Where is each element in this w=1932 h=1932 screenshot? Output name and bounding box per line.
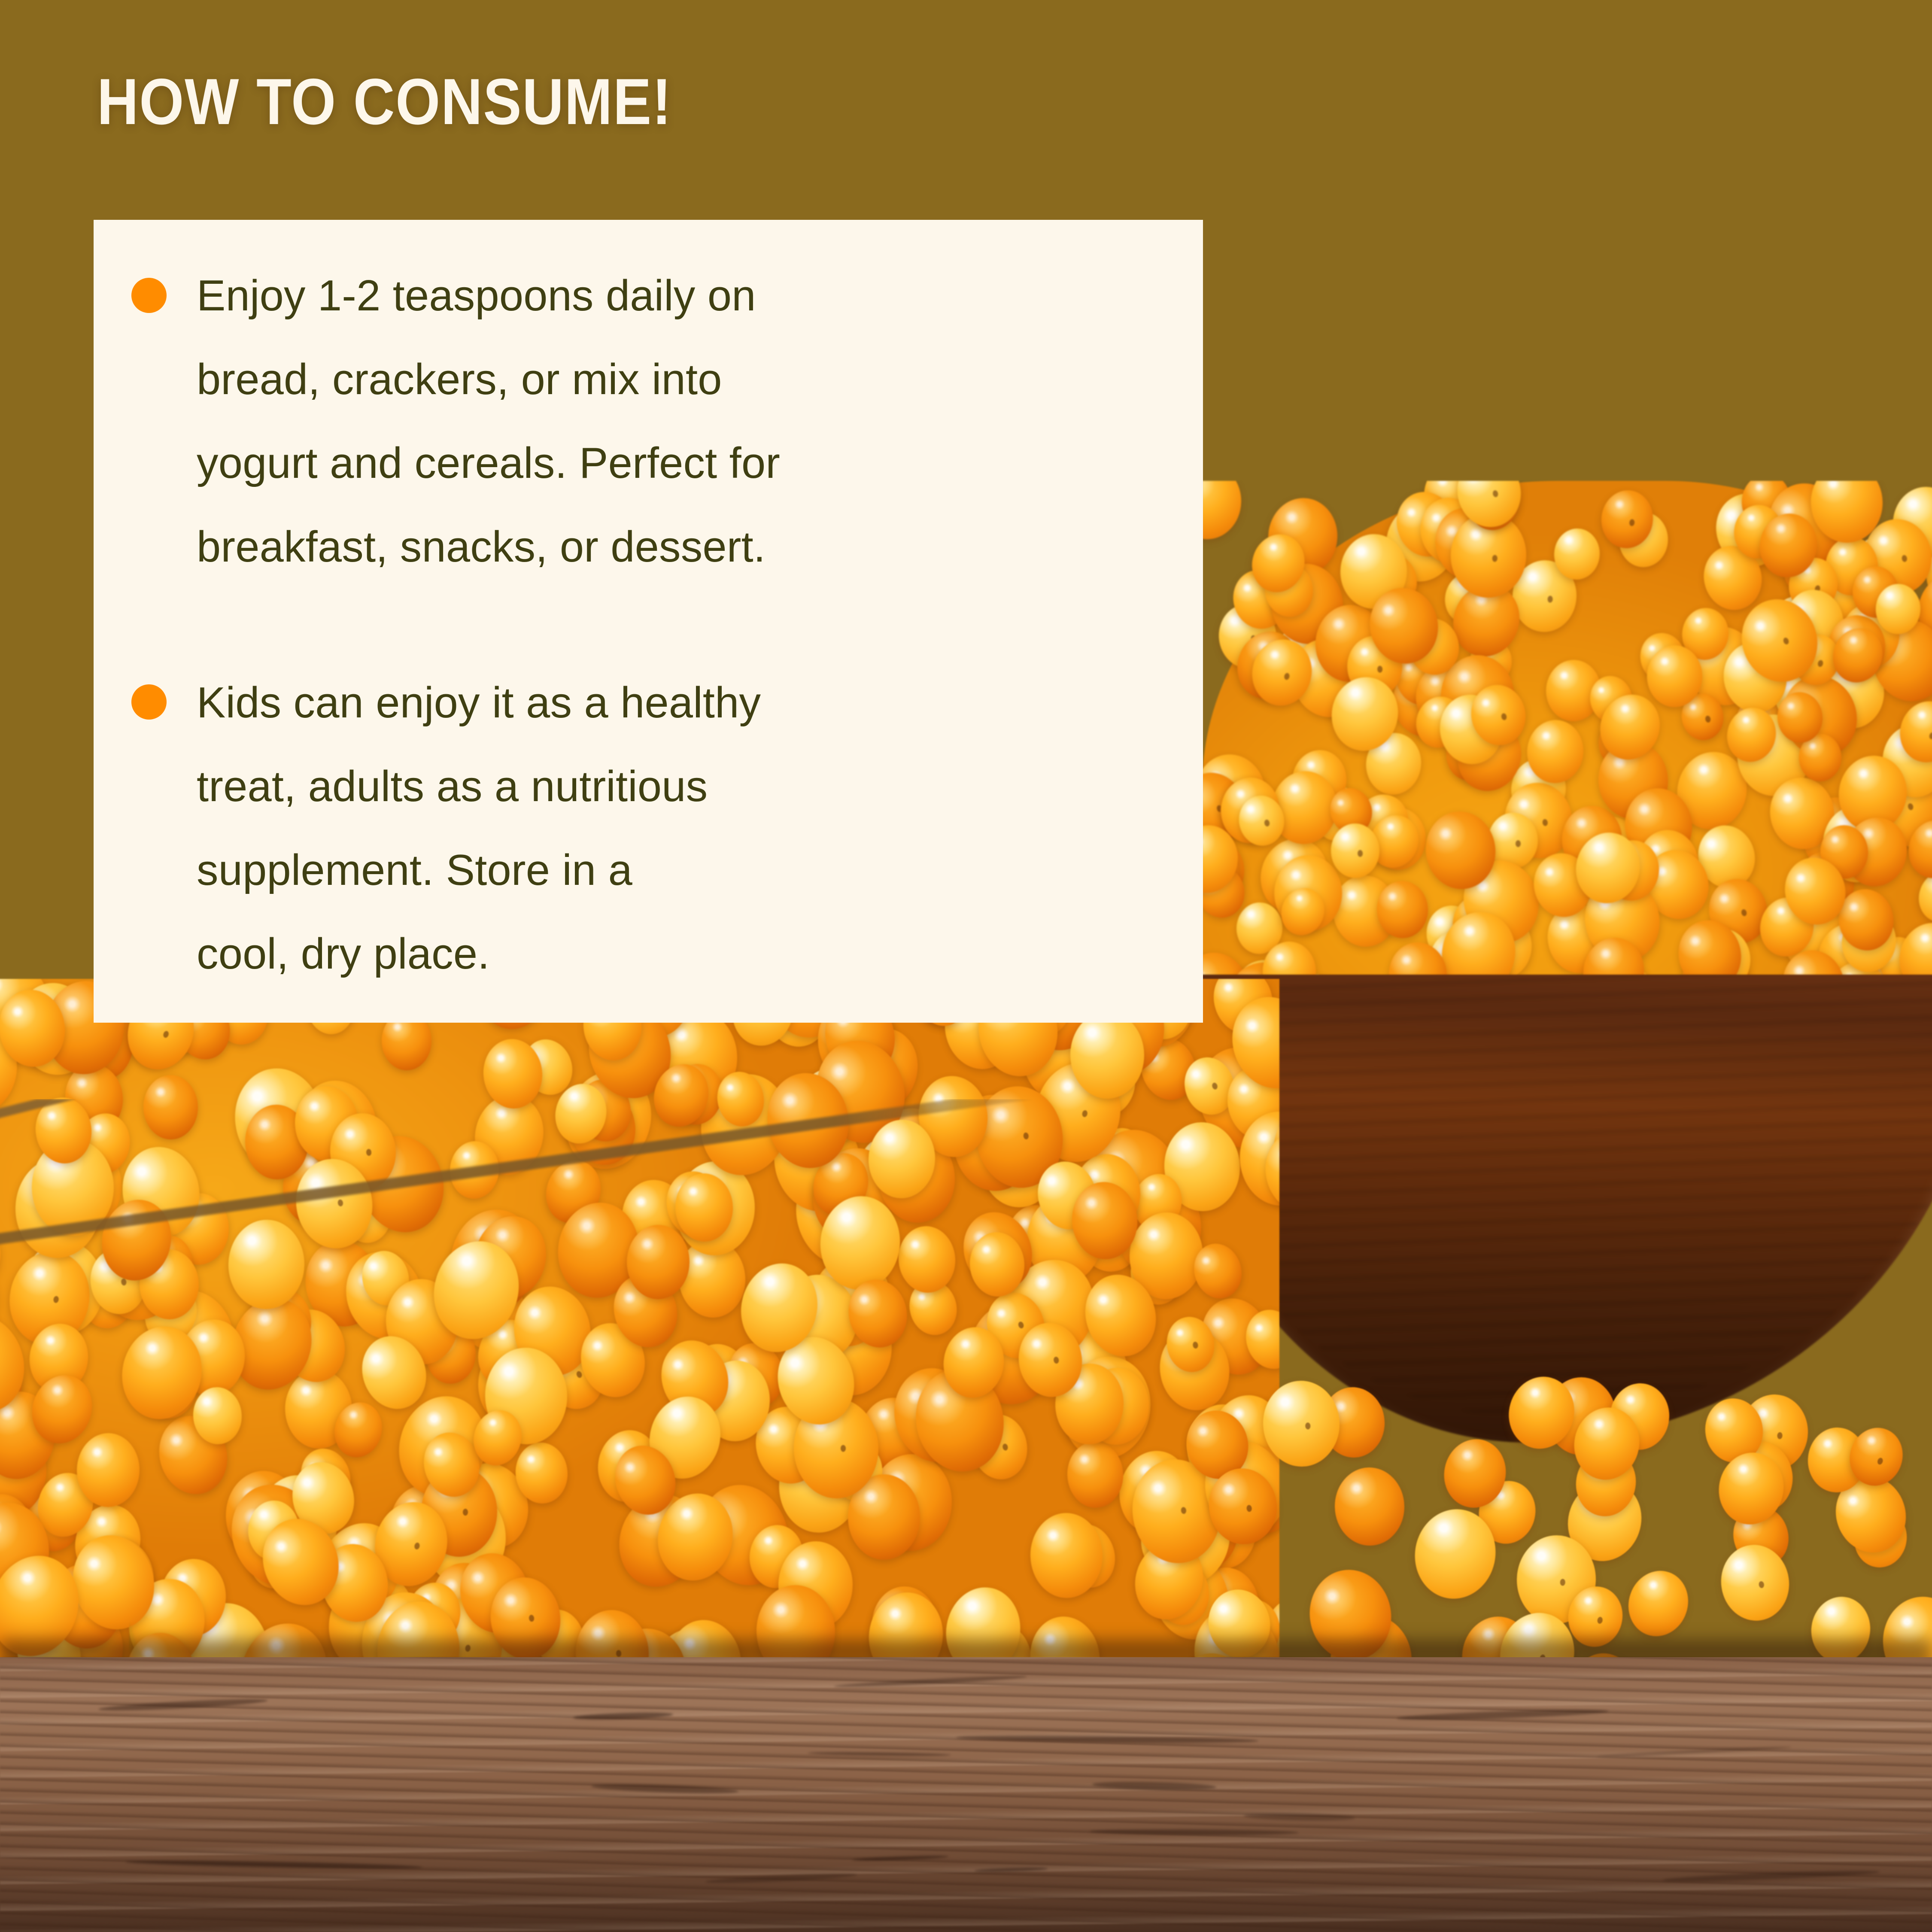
list-item-text: Enjoy 1-2 teaspoons daily on bread, crac…: [197, 254, 1184, 589]
instructions-list: Enjoy 1-2 teaspoons daily on bread, crac…: [94, 220, 1203, 1023]
berry-speck: [1492, 555, 1498, 562]
berry-speck: [1542, 819, 1548, 826]
infographic-canvas: HOW TO CONSUME! Enjoy 1-2 teaspoons dail…: [0, 0, 1932, 1932]
berry-speck: [1704, 715, 1711, 723]
wood-plank-grain: [0, 1657, 1932, 1932]
berry-speck: [1492, 489, 1499, 497]
berry-speck: [1264, 819, 1270, 827]
berry-speck: [1901, 555, 1907, 562]
needle-leaves-lower: [129, 1185, 1030, 1657]
wooden-bowl-grain: [1168, 962, 1932, 1417]
berry: [1647, 645, 1702, 707]
berry: [1334, 1467, 1406, 1547]
berry-heap-in-bowl: [1202, 481, 1932, 975]
berry-speck: [1929, 732, 1932, 740]
berry-speck: [1358, 850, 1363, 857]
berry-speck: [1908, 803, 1914, 811]
bullet-dot-icon: [131, 278, 167, 313]
berry-speck: [1777, 1432, 1783, 1440]
berry-speck: [1246, 1505, 1252, 1512]
berry-speck: [1560, 1579, 1566, 1586]
berry-speck: [1783, 637, 1790, 645]
berry-speck: [1817, 659, 1824, 667]
berry-speck: [1516, 840, 1521, 847]
berry-speck: [1741, 909, 1747, 917]
berry-speck: [1305, 1422, 1311, 1430]
berry: [1202, 481, 1242, 540]
bullet-dot-icon: [131, 684, 167, 720]
berry-speck: [1629, 519, 1635, 526]
berry-speck: [1501, 713, 1507, 721]
list-item-text: Kids can enjoy it as a healthy treat, ad…: [197, 661, 1184, 996]
berry-speck: [1082, 1110, 1088, 1118]
berry-speck: [1547, 595, 1553, 603]
berry: [1620, 1563, 1697, 1644]
berry-speck: [1211, 1082, 1218, 1091]
berry-speck: [1284, 672, 1290, 680]
berry-speck: [1877, 1457, 1883, 1465]
instructions-card: Enjoy 1-2 teaspoons daily on bread, crac…: [94, 220, 1203, 1023]
berry-speck: [1597, 1616, 1604, 1624]
berry-speck: [1759, 1581, 1765, 1589]
page-title: HOW TO CONSUME!: [97, 64, 672, 140]
berry-speck: [1377, 666, 1382, 673]
berry-speck: [1192, 1341, 1199, 1349]
